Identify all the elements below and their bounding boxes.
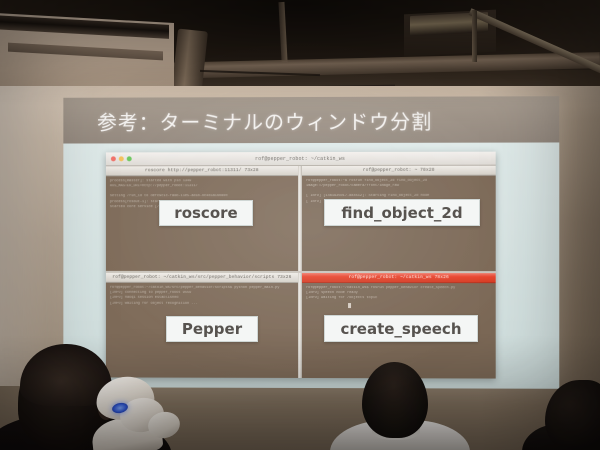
pane-header-label: rof@pepper_robot: ~/catkin_ws/src/pepper…: [112, 275, 291, 280]
audience-member-right-head: [362, 362, 428, 438]
ceiling-duct: [172, 29, 208, 90]
terminal-window[interactable]: rof@pepper_robot: ~/catkin_ws roscore ht…: [106, 152, 496, 379]
callout-label-pepper: Pepper: [166, 316, 258, 342]
pane-header-label: rof@pepper_robot: ~ 78x28: [363, 168, 435, 173]
terminal-line: [INFO] waiting for /objects topic: [306, 296, 492, 301]
terminal-pane-grid: roscore http://pepper_robot:11311/ 73x28…: [106, 166, 496, 379]
terminal-line: [INFO] waiting for object recognition ..…: [110, 301, 294, 306]
slide-body: rof@pepper_robot: ~/catkin_ws roscore ht…: [63, 142, 559, 388]
photo-scene: 参考：ターミナルのウィンドウ分割 rof@pepper_robot: ~/cat…: [0, 0, 600, 450]
pane-header-label: roscore http://pepper_robot:11311/ 73x28: [145, 168, 259, 173]
projected-slide: 参考：ターミナルのウィンドウ分割 rof@pepper_robot: ~/cat…: [63, 96, 559, 389]
slide-title-band: 参考：ターミナルのウィンドウ分割: [63, 96, 559, 143]
slide-title: 参考：ターミナルのウィンドウ分割: [97, 105, 432, 135]
terminal-window-title: rof@pepper_robot: ~/catkin_ws: [106, 155, 496, 162]
callout-label-roscore: roscore: [159, 200, 253, 226]
ceiling-pipe-vertical: [472, 10, 477, 62]
terminal-cursor: [348, 303, 351, 308]
pane-header-top-right[interactable]: rof@pepper_robot: ~ 78x28: [302, 166, 496, 176]
pane-header-top-left[interactable]: roscore http://pepper_robot:11311/ 73x28: [106, 166, 298, 176]
terminal-titlebar[interactable]: rof@pepper_robot: ~/catkin_ws: [106, 152, 496, 167]
callout-label-create-speech: create_speech: [324, 315, 478, 342]
pane-header-bottom-right-active[interactable]: rof@pepper_robot: ~/catkin_ws 78x26: [302, 273, 496, 283]
pane-header-bottom-left[interactable]: rof@pepper_robot: ~/catkin_ws/src/pepper…: [106, 273, 298, 283]
pane-header-label: rof@pepper_robot: ~/catkin_ws 78x26: [349, 275, 449, 280]
callout-label-find-object-2d: find_object_2d: [324, 199, 480, 226]
